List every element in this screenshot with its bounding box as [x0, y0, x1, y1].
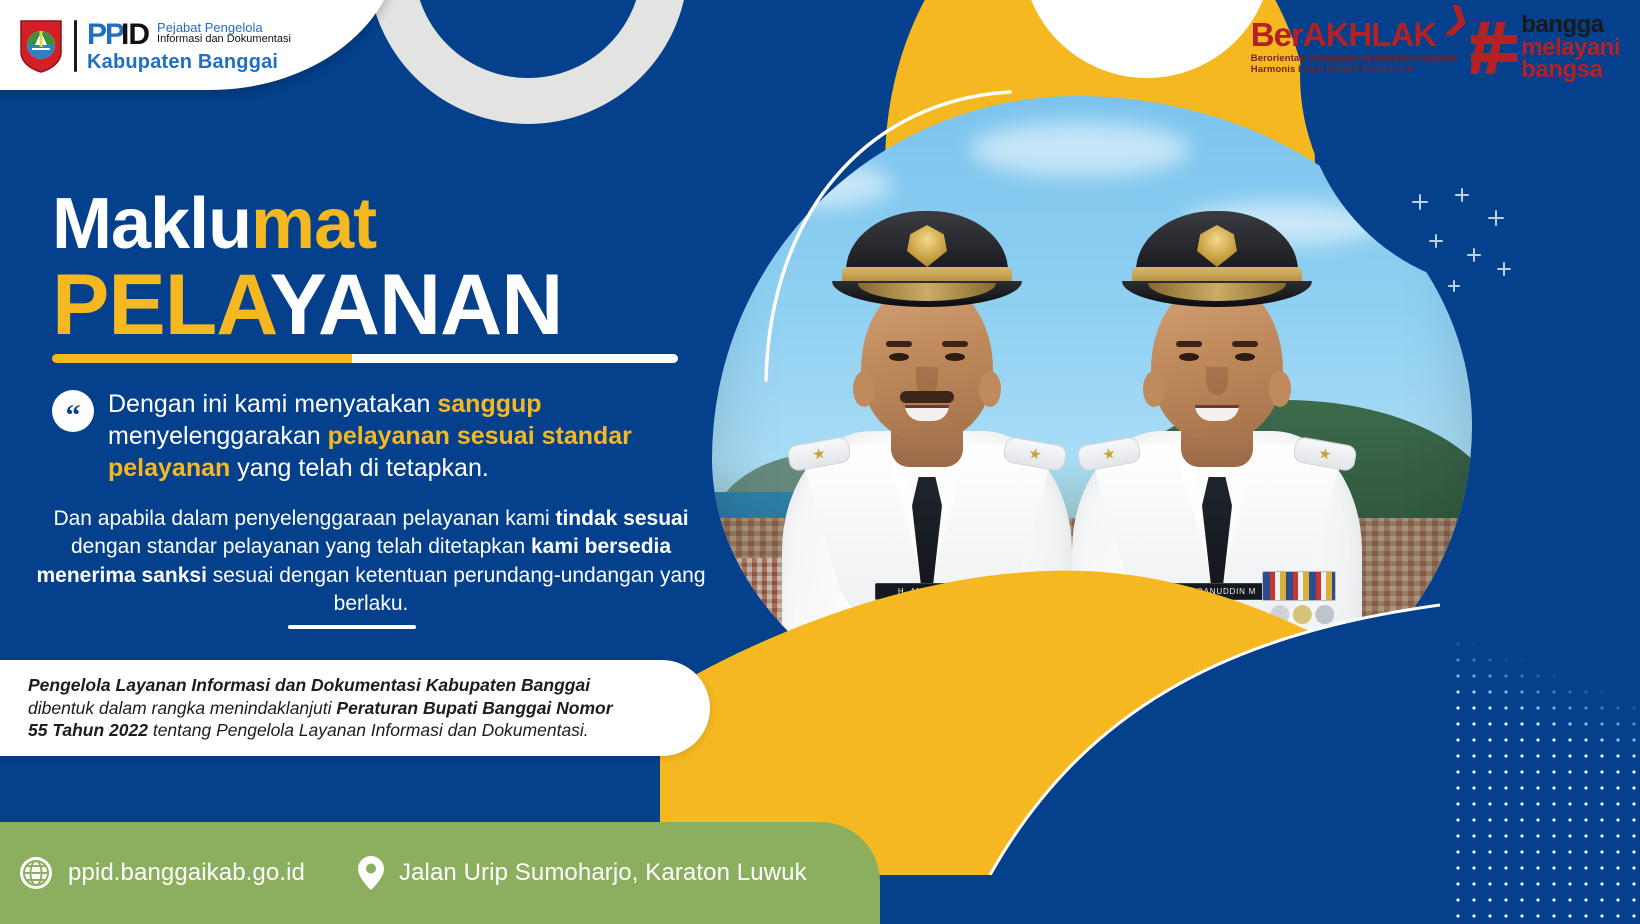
eyebrow-left — [886, 341, 912, 347]
rank-star-icon — [1318, 447, 1332, 461]
note-line-1: Pengelola Layanan Informasi dan Dokument… — [28, 674, 613, 697]
footer-location-text: Jalan Urip Sumoharjo, Karaton Luwuk — [399, 859, 807, 887]
dot-grid-decoration — [1450, 620, 1640, 920]
bangga-melayani-bangsa-logo: bangga melayani bangsa — [1471, 14, 1620, 82]
headline-maklu: Maklu — [52, 184, 251, 264]
page-title: Maklumat PELAYANAN — [52, 188, 678, 363]
bangga-words: bangga melayani bangsa — [1521, 14, 1620, 82]
banner-canvas: H. AMIRUDIN — [0, 0, 1640, 924]
berakhlak-logo[interactable]: BerAKHLAK ❯ Berorientasi Pelayanan Akunt… — [1251, 14, 1620, 82]
ppid-region: Kabupaten Banggai — [87, 52, 291, 72]
eye-left — [889, 353, 909, 361]
para2-seg-2: dengan standar pelayanan yang telah dite… — [71, 535, 531, 558]
regulation-note-text: Pengelola Layanan Informasi dan Dokument… — [0, 674, 649, 742]
note-line-2: dibentuk dalam rangka menindaklanjuti Pe… — [28, 697, 613, 720]
eye-right — [945, 353, 965, 361]
ear-right — [979, 371, 1001, 407]
berakhlak-title-text: BerAKHLAK — [1251, 16, 1436, 53]
mouth — [905, 405, 949, 421]
regulation-note-box: Pengelola Layanan Informasi dan Dokument… — [0, 660, 710, 756]
rank-star-icon — [1102, 447, 1116, 461]
headline-line-2: PELAYANAN — [52, 262, 678, 348]
underline-white-part — [352, 354, 678, 363]
mouth — [1195, 405, 1239, 421]
note-line3-bold: 55 Tahun 2022 — [28, 720, 148, 740]
underline-gold-part — [52, 354, 352, 363]
footer-location[interactable]: Jalan Urip Sumoharjo, Karaton Luwuk — [357, 855, 807, 891]
berakhlak-values-line2: Harmonis Loyal Adaptif Kolaboratif — [1251, 65, 1457, 76]
ppid-id-text: ID — [121, 20, 149, 50]
tagline-line3: bangsa — [1521, 59, 1620, 82]
ear-left — [1143, 371, 1165, 407]
eyebrow-right — [942, 341, 968, 347]
note-line2-bold: Peraturan Bupati Banggai Nomor — [336, 698, 612, 718]
sanction-paragraph: Dan apabila dalam penyelenggaraan pelaya… — [28, 505, 714, 618]
headline-line-1: Maklumat — [52, 188, 678, 260]
nose — [1206, 367, 1228, 395]
note-line1-bold: Pengelola Layanan Informasi dan Dokument… — [28, 675, 590, 695]
note-line3-normal: tentang Pengelola Layanan Informasi dan … — [148, 720, 589, 740]
ppid-logo[interactable]: PP ID Pejabat Pengelola Informasi dan Do… — [18, 18, 291, 74]
globe-icon — [18, 855, 54, 891]
cloud-shape — [970, 122, 1190, 176]
headline-yanan: YANAN — [269, 257, 562, 353]
para2-seg-0: Dan apabila dalam penyelenggaraan pelaya… — [53, 507, 555, 530]
quote-seg-1: sanggup — [437, 390, 541, 418]
note-line-3: 55 Tahun 2022 tentang Pengelola Layanan … — [28, 719, 613, 742]
ear-left — [853, 371, 875, 407]
mustache — [900, 391, 954, 403]
eye-right — [1235, 353, 1255, 361]
para2-seg-1: tindak sesuai — [555, 507, 688, 530]
quote-mark-icon: “ — [52, 390, 94, 432]
hashtag-icon — [1471, 20, 1517, 76]
berakhlak-title: BerAKHLAK ❯ — [1251, 18, 1457, 51]
eye-left — [1179, 353, 1199, 361]
ear-right — [1269, 371, 1291, 407]
headline-underline — [52, 354, 678, 363]
logo-divider — [74, 20, 77, 72]
rank-star-icon — [812, 447, 826, 461]
sparkle-decoration — [1400, 185, 1520, 315]
headline-pela: PELA — [52, 257, 269, 353]
section-divider — [288, 625, 416, 629]
map-pin-icon — [357, 855, 385, 891]
grey-ring-decoration — [368, 0, 688, 124]
peaked-cap — [1122, 211, 1312, 307]
footer-website-text: ppid.banggaikab.go.id — [68, 859, 305, 887]
quote-seg-2: menyelenggarakan — [108, 422, 328, 450]
peaked-cap — [832, 211, 1022, 307]
pledge-quote: “ Dengan ini kami menyatakan sanggup men… — [52, 388, 712, 484]
quote-seg-4: yang telah di tetapkan. — [230, 454, 489, 482]
para2-seg-4: sesuai dengan ketentuan perundang-undang… — [207, 564, 706, 615]
headline-mat: mat — [251, 184, 376, 264]
berakhlak-values: Berorientasi Pelayanan Akuntabel Kompete… — [1251, 54, 1457, 76]
berakhlak-text-block: BerAKHLAK ❯ Berorientasi Pelayanan Akunt… — [1251, 14, 1457, 76]
ppid-pp-text: PP — [87, 20, 123, 50]
ppid-subtitle-line2: Informasi dan Dokumentasi — [157, 34, 291, 45]
eyebrow-right — [1232, 341, 1258, 347]
note-line2-normal: dibentuk dalam rangka menindaklanjuti — [28, 698, 336, 718]
footer-bar: ppid.banggaikab.go.id Jalan Urip Sumohar… — [0, 822, 880, 924]
berakhlak-tick-icon: ❯ — [1442, 3, 1473, 38]
eyebrow-left — [1176, 341, 1202, 347]
footer-website[interactable]: ppid.banggaikab.go.id — [18, 855, 305, 891]
quote-seg-0: Dengan ini kami menyatakan — [108, 390, 437, 418]
rank-star-icon — [1028, 447, 1042, 461]
quote-text: Dengan ini kami menyatakan sanggup menye… — [108, 388, 712, 484]
ppid-text-block: PP ID Pejabat Pengelola Informasi dan Do… — [87, 20, 291, 72]
banggai-regency-crest-icon — [18, 18, 64, 74]
